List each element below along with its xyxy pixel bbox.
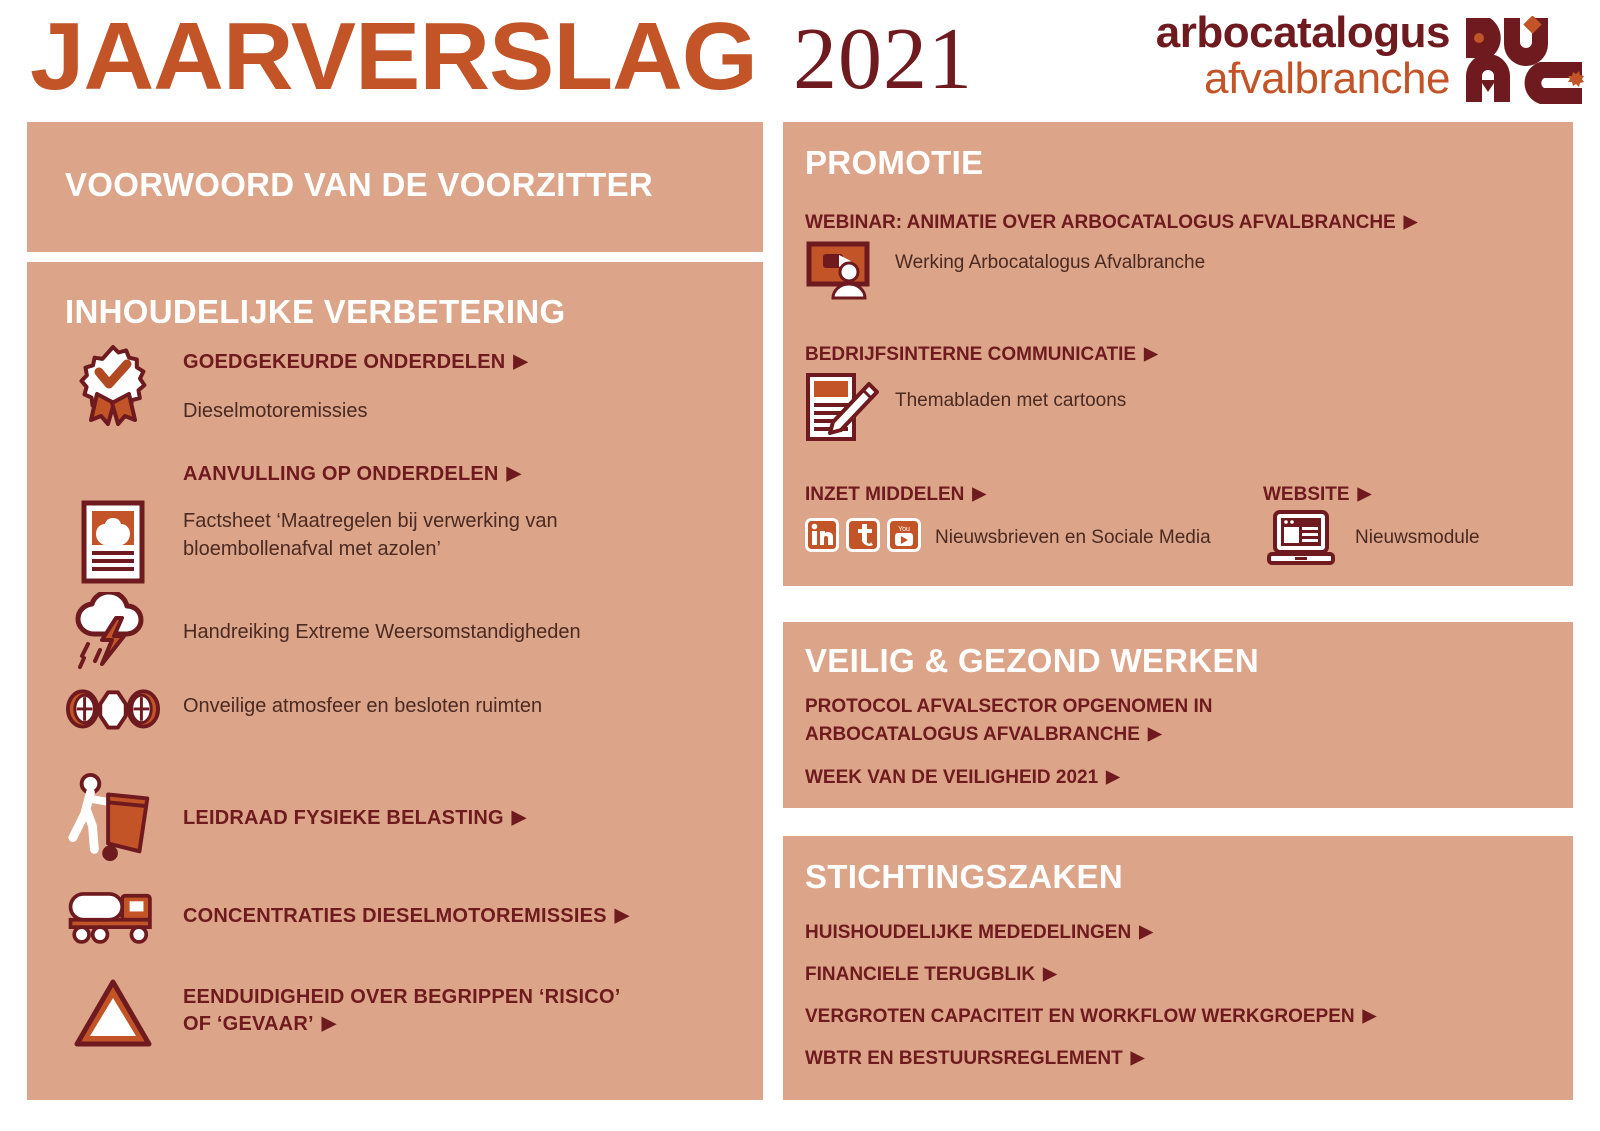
video-presentation-icon <box>805 240 877 302</box>
promotie-website-heading-text: WEBSITE <box>1263 484 1350 505</box>
logo-line2: afvalbranche <box>1156 56 1450 102</box>
chevron-right-icon[interactable]: ▶ <box>513 348 527 374</box>
page-title-year: 2021 <box>793 14 973 106</box>
stichting-item-huishoudelijke[interactable]: HUISHOUDELIJKE MEDEDELINGEN▶ <box>805 918 1153 946</box>
list-item-sub: Factsheet ‘Maatregelen bij verwerking va… <box>183 507 583 563</box>
chevron-right-icon[interactable]: ▶ <box>507 460 521 486</box>
chevron-right-icon[interactable]: ▶ <box>1363 1002 1376 1028</box>
list-item-sub: Handreiking Extreme Weersomstandigheden <box>183 618 581 646</box>
stichting-item-wbtr-text: WBTR EN BESTUURSREGLEMENT <box>805 1048 1123 1069</box>
stichting-item-wbtr[interactable]: WBTR EN BESTUURSREGLEMENT▶ <box>805 1044 1144 1072</box>
promotie-inzet-sub: Nieuwsbrieven en Sociale Media <box>935 527 1211 549</box>
panel-inhoudelijke-verbetering: INHOUDELIJKE VERBETERING GOEDGEKEURDE ON… <box>27 262 763 1100</box>
person-pushing-bin-icon <box>65 772 161 864</box>
tanker-truck-icon <box>65 886 161 948</box>
promotie-webinar-sub: Werking Arbocatalogus Afvalbranche <box>895 252 1205 274</box>
dv-nc-monogram-icon <box>1464 16 1584 104</box>
twitter-icon[interactable] <box>846 518 880 552</box>
chevron-right-icon[interactable]: ▶ <box>1144 340 1157 366</box>
panel-voorwoord-title: VOORWOORD VAN DE VOORZITTER <box>65 166 653 204</box>
chevron-right-icon[interactable]: ▶ <box>322 1010 336 1036</box>
logo-text: arbocatalogus afvalbranche <box>1156 10 1450 102</box>
list-item-heading[interactable]: CONCENTRATIES DIESELMOTOREMISSIES▶ <box>183 902 629 929</box>
list-item-sub: Dieselmotoremissies <box>183 397 528 425</box>
veilig-item-protocol[interactable]: PROTOCOL AFVALSECTOR OPGENOMEN IN ARBOCA… <box>805 694 1325 748</box>
panel-stichting-title: STICHTINGSZAKEN <box>805 858 1123 896</box>
list-item-heading[interactable]: GOEDGEKEURDE ONDERDELEN▶ <box>183 348 528 375</box>
list-item-heading-text: CONCENTRATIES DIESELMOTOREMISSIES <box>183 905 607 927</box>
chevron-right-icon[interactable]: ▶ <box>1139 918 1152 944</box>
stichting-item-financiele[interactable]: FINANCIELE TERUGBLIK▶ <box>805 960 1057 988</box>
list-item-heading[interactable]: EENDUIDIGHEID OVER BEGRIPPEN ‘RISICO’ OF… <box>183 984 653 1037</box>
promotie-webinar-heading-text: WEBINAR: ANIMATIE OVER ARBOCATALOGUS AFV… <box>805 212 1396 233</box>
page-title: JAARVERSLAG <box>30 9 757 105</box>
list-item-heading[interactable]: LEIDRAAD FYSIEKE BELASTING▶ <box>183 804 526 831</box>
document-tree-icon <box>65 500 161 584</box>
veilig-item-week[interactable]: WEEK VAN DE VEILIGHEID 2021▶ <box>805 763 1120 791</box>
stichting-item-vergroten[interactable]: VERGROTEN CAPACITEIT EN WORKFLOW WERKGRO… <box>805 1002 1376 1030</box>
social-icons: You <box>805 518 921 552</box>
logo: arbocatalogus afvalbranche <box>1154 8 1584 108</box>
promotie-bedrijfsintern-sub: Themabladen met cartoons <box>895 390 1126 412</box>
chevron-right-icon[interactable]: ▶ <box>615 902 629 928</box>
promotie-webinar-heading[interactable]: WEBINAR: ANIMATIE OVER ARBOCATALOGUS AFV… <box>805 208 1417 236</box>
list-item-heading-text: AANVULLING OP ONDERDELEN <box>183 463 499 485</box>
promotie-bedrijfsintern-heading[interactable]: BEDRIJFSINTERNE COMMUNICATIE▶ <box>805 340 1158 368</box>
promotie-inzet-heading[interactable]: INZET MIDDELEN▶ <box>805 480 986 508</box>
panel-stichtingszaken: STICHTINGSZAKEN HUISHOUDELIJKE MEDEDELIN… <box>783 836 1573 1100</box>
promotie-bedrijfsintern-heading-text: BEDRIJFSINTERNE COMMUNICATIE <box>805 344 1136 365</box>
laptop-website-icon <box>1267 510 1335 568</box>
promotie-website-sub: Nieuwsmodule <box>1355 527 1480 549</box>
list-item-heading-text: GOEDGEKEURDE ONDERDELEN <box>183 351 505 373</box>
panel-veilig-gezond-werken: VEILIG & GEZOND WERKEN PROTOCOL AFVALSEC… <box>783 622 1573 808</box>
veilig-item-week-text: WEEK VAN DE VEILIGHEID 2021 <box>805 767 1098 788</box>
list-item-heading-text: EENDUIDIGHEID OVER BEGRIPPEN ‘RISICO’ OF… <box>183 986 619 1035</box>
panel-veilig-title: VEILIG & GEZOND WERKEN <box>805 642 1259 680</box>
storm-cloud-icon <box>65 592 161 674</box>
chevron-right-icon[interactable]: ▶ <box>1106 763 1119 789</box>
chevron-right-icon[interactable]: ▶ <box>1131 1044 1144 1070</box>
promotie-website-heading[interactable]: WEBSITE▶ <box>1263 480 1371 508</box>
list-item-heading[interactable]: AANVULLING OP ONDERDELEN▶ <box>183 460 583 487</box>
panel-voorwoord[interactable]: VOORWOORD VAN DE VOORZITTER <box>27 122 763 252</box>
stichting-item-financiele-text: FINANCIELE TERUGBLIK <box>805 964 1035 985</box>
annual-report-infographic: JAARVERSLAG 2021 arbocatalogus afvalbran… <box>0 0 1600 1131</box>
chevron-right-icon[interactable]: ▶ <box>512 804 526 830</box>
award-ribbon-icon <box>65 344 161 430</box>
chevron-right-icon[interactable]: ▶ <box>1148 720 1161 746</box>
panel-promotie-title: PROMOTIE <box>805 144 983 182</box>
list-item-heading-text: LEIDRAAD FYSIEKE BELASTING <box>183 807 504 829</box>
youtube-icon[interactable]: You <box>887 518 921 552</box>
stichting-item-vergroten-text: VERGROTEN CAPACITEIT EN WORKFLOW WERKGRO… <box>805 1006 1355 1027</box>
stichting-item-huishoudelijke-text: HUISHOUDELIJKE MEDEDELINGEN <box>805 922 1131 943</box>
chevron-right-icon[interactable]: ▶ <box>1358 480 1371 506</box>
warning-triangle-icon <box>65 978 161 1048</box>
linkedin-icon[interactable] <box>805 518 839 552</box>
panel-inhoud-title: INHOUDELIJKE VERBETERING <box>65 293 565 331</box>
chevron-right-icon[interactable]: ▶ <box>1404 208 1417 234</box>
list-item-sub: Onveilige atmosfeer en besloten ruimten <box>183 692 542 720</box>
chevron-right-icon[interactable]: ▶ <box>1043 960 1056 986</box>
logo-line1: arbocatalogus <box>1156 10 1450 56</box>
panel-promotie: PROMOTIE WEBINAR: ANIMATIE OVER ARBOCATA… <box>783 122 1573 586</box>
chevron-right-icon[interactable]: ▶ <box>972 480 985 506</box>
svg-text:You: You <box>898 526 910 533</box>
document-pen-icon <box>805 372 879 442</box>
page-header: JAARVERSLAG 2021 arbocatalogus afvalbran… <box>0 0 1600 118</box>
promotie-inzet-heading-text: INZET MIDDELEN <box>805 484 964 505</box>
respirator-mask-icon <box>65 680 161 732</box>
